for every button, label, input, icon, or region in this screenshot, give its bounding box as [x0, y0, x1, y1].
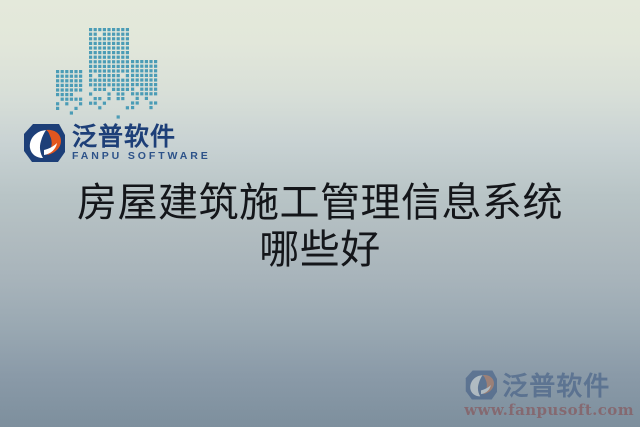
page-title-line-2: 哪些好 — [0, 227, 640, 274]
fanpu-logo-mark-icon — [22, 122, 66, 164]
fanpu-watermark-mark-icon — [464, 369, 498, 401]
brand-text: 泛普软件 FANPU SOFTWARE — [72, 124, 211, 162]
brand-logo: 泛普软件 FANPU SOFTWARE — [22, 122, 211, 164]
poster-canvas: 泛普软件 FANPU SOFTWARE 房屋建筑施工管理信息系统 哪些好 泛普软… — [0, 0, 640, 427]
watermark: 泛普软件 www.fanpusoft.com — [464, 366, 634, 419]
brand-name-en: FANPU SOFTWARE — [72, 151, 211, 162]
watermark-url: www.fanpusoft.com — [464, 401, 634, 419]
page-title: 房屋建筑施工管理信息系统 哪些好 — [0, 180, 640, 274]
watermark-name-cn: 泛普软件 — [502, 366, 610, 403]
brand-name-cn: 泛普软件 — [72, 124, 211, 149]
pixel-city-skyline-icon — [56, 26, 158, 120]
page-title-line-1: 房屋建筑施工管理信息系统 — [0, 180, 640, 227]
watermark-logo-row: 泛普软件 — [464, 366, 634, 403]
